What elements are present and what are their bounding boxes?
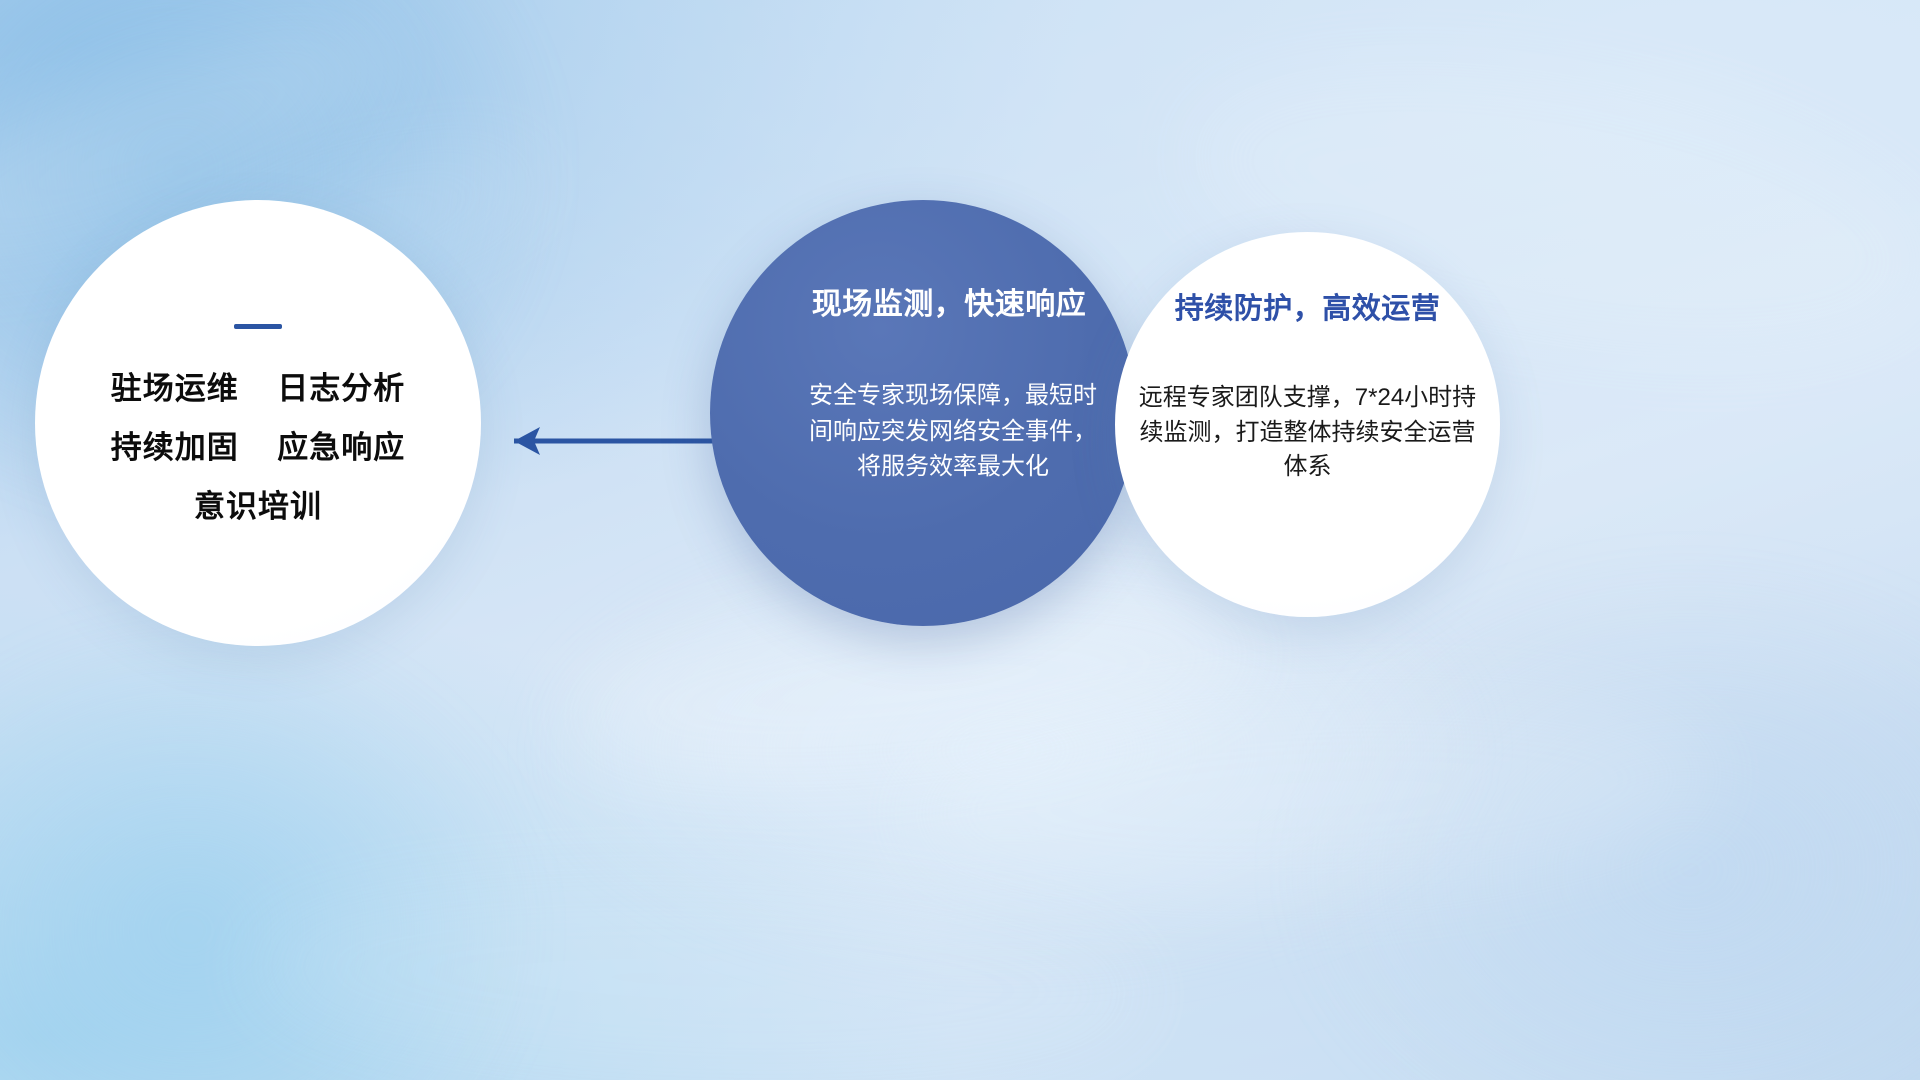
arrow-left-icon (480, 415, 720, 467)
list-item: 意识培训 (111, 491, 405, 522)
capability-circle-left: 驻场运维 日志分析 持续加固 应急响应 意识培训 (35, 200, 481, 646)
circle-right-body: 远程专家团队支撑，7*24小时持续监测，打造整体持续安全运营体系 (1130, 381, 1486, 485)
circle-right-heading: 持续防护，高效运营 (1175, 294, 1441, 326)
list-item: 持续加固 应急响应 (111, 432, 405, 463)
divider (234, 324, 282, 329)
circle-middle-heading: 现场监测，快速响应 (812, 288, 1087, 321)
capability-circle-middle: 现场监测，快速响应 安全专家现场保障，最短时间响应突发网络安全事件，将服务效率最… (710, 200, 1136, 626)
list-item: 驻场运维 日志分析 (111, 373, 405, 404)
capability-list: 驻场运维 日志分析 持续加固 应急响应 意识培训 (111, 373, 405, 522)
circle-middle-body: 安全专家现场保障，最短时间响应突发网络安全事件，将服务效率最大化 (803, 378, 1103, 485)
capability-circle-right: 持续防护，高效运营 远程专家团队支撑，7*24小时持续监测，打造整体持续安全运营… (1115, 232, 1500, 617)
